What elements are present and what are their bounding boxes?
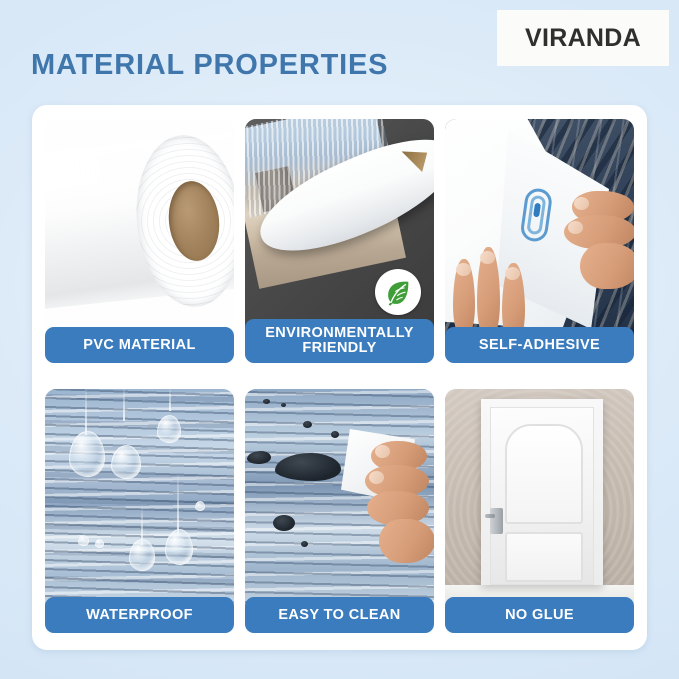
feature-label-no-glue: NO GLUE [445,597,634,633]
feature-label-self-adhesive: SELF-ADHESIVE [445,327,634,363]
wiping-hand [365,441,434,591]
feature-label-text: WATERPROOF [86,608,193,623]
feature-card-environmentally-friendly[interactable]: ENVIRONMENTALLY FRIENDLY [245,119,434,363]
feature-label-text: PVC MATERIAL [83,338,195,353]
feature-label-text: ENVIRONMENTALLY [265,325,414,341]
feature-card-waterproof[interactable]: WATERPROOF [45,389,234,633]
feature-label-text: EASY TO CLEAN [278,608,400,623]
feature-label-easy-to-clean: EASY TO CLEAN [245,597,434,633]
leaf-icon [375,269,421,315]
brand-logo: VIRANDA [497,10,669,66]
door-handle-icon [490,508,503,534]
page-title: MATERIAL PROPERTIES [31,49,388,82]
feature-card-self-adhesive[interactable]: SELF-ADHESIVE [445,119,634,363]
feature-card-pvc-material[interactable]: PVC MATERIAL [45,119,234,363]
feature-label-waterproof: WATERPROOF [45,597,234,633]
right-hand [550,191,634,295]
feature-card-no-glue[interactable]: NO GLUE [445,389,634,633]
infographic-page: VIRANDA MATERIAL PROPERTIES PVC MATERIAL [0,0,679,679]
brand-name: VIRANDA [525,24,641,53]
feature-label-text-line2: FRIENDLY [265,341,414,356]
content-panel: PVC MATERIAL [32,105,647,650]
feature-label-text: SELF-ADHESIVE [479,338,600,353]
feature-label-pvc-material: PVC MATERIAL [45,327,234,363]
feature-label-environmentally-friendly: ENVIRONMENTALLY FRIENDLY [245,319,434,363]
feature-grid: PVC MATERIAL [45,119,634,636]
door [481,399,603,585]
feature-card-easy-to-clean[interactable]: EASY TO CLEAN [245,389,434,633]
feature-label-text: NO GLUE [505,608,574,623]
